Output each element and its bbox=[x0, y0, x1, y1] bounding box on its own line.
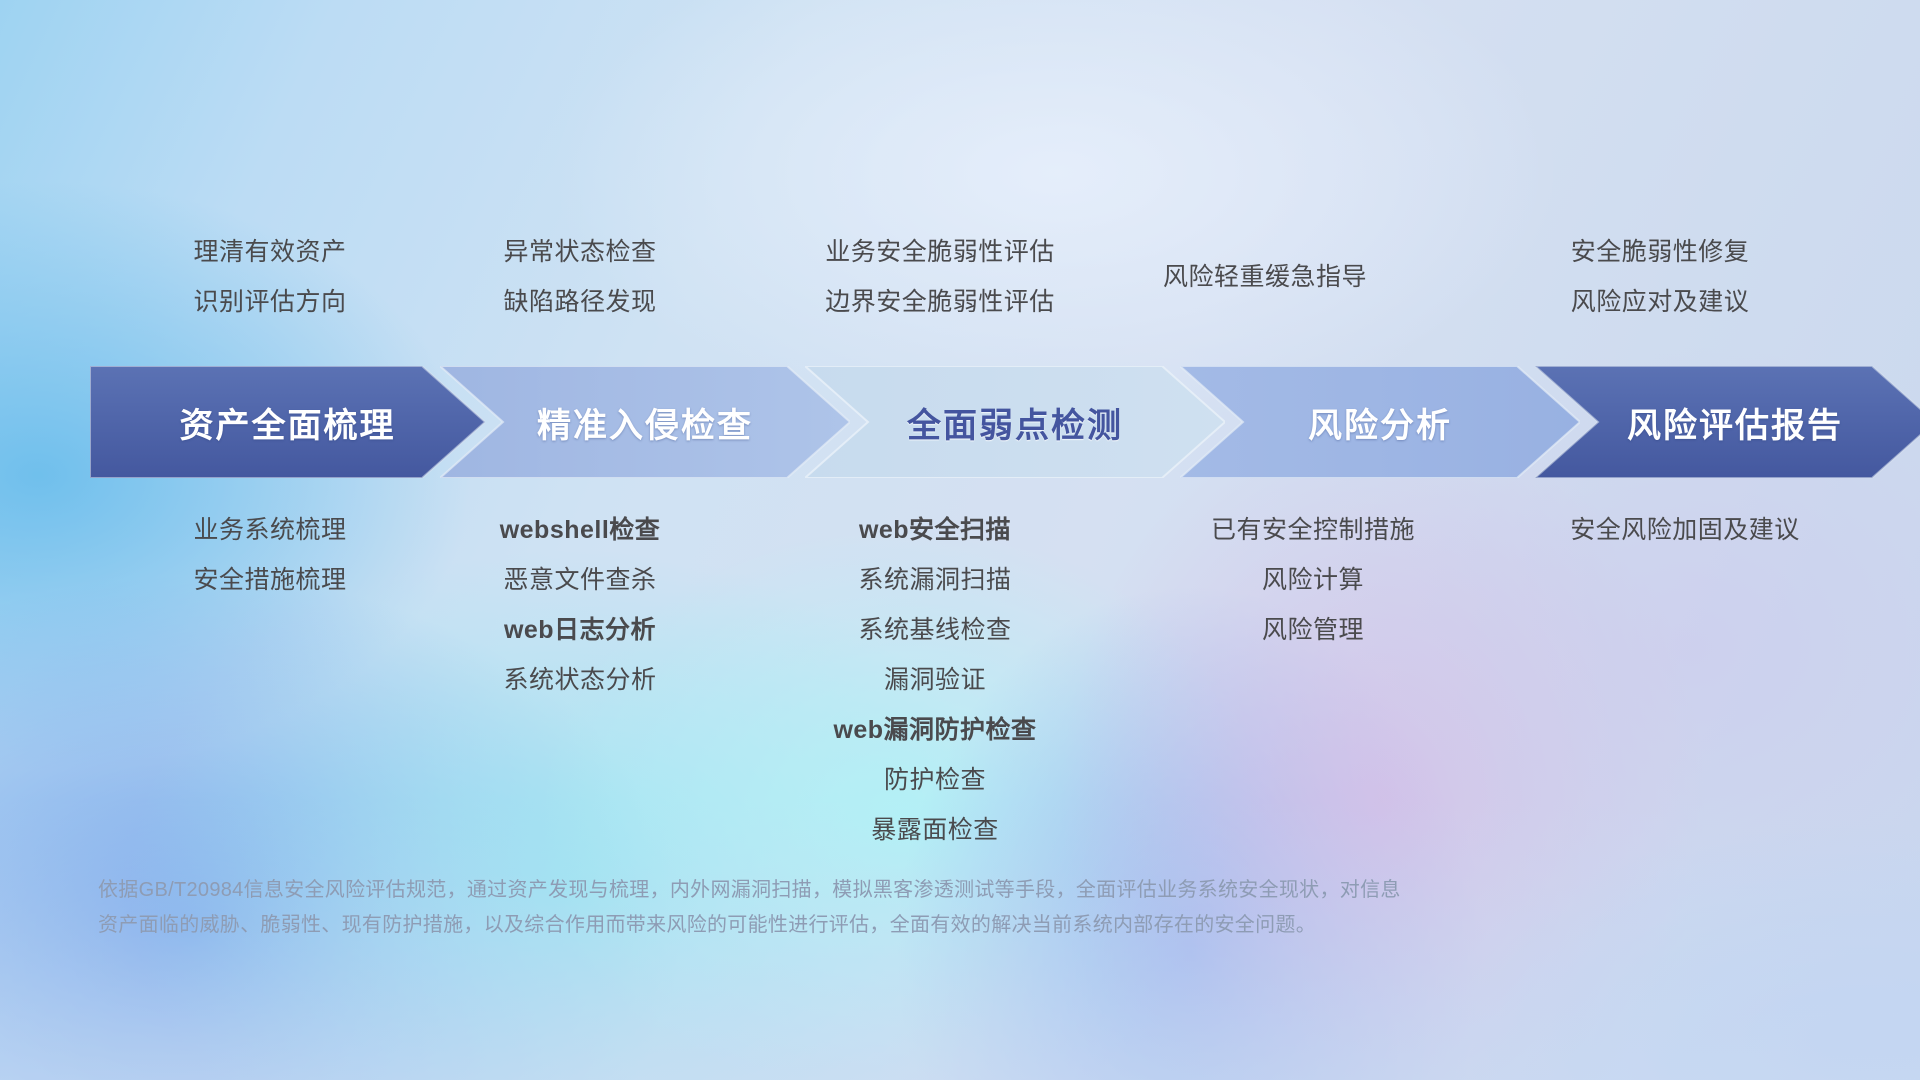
bottom-label-item: 安全风险加固及建议 bbox=[1335, 505, 1920, 555]
chevron-weakness-detection[interactable]: 全面弱点检测 bbox=[805, 366, 1225, 478]
chevron-label: 风险分析 bbox=[1308, 398, 1452, 447]
top-labels-risk-analysis: 风险轻重缓急指导 bbox=[1035, 252, 1495, 302]
bottom-label-item: 风险计算 bbox=[1083, 555, 1543, 605]
top-label-item: 安全脆弱性修复 bbox=[1430, 227, 1890, 277]
chevron-label: 精准入侵检查 bbox=[537, 398, 753, 447]
bottom-label-item: 防护检查 bbox=[705, 755, 1165, 805]
footnote-paragraph: 依据GB/T20984信息安全风险评估规范，通过资产发现与梳理，内外网漏洞扫描，… bbox=[98, 873, 1658, 943]
chevron-risk-analysis[interactable]: 风险分析 bbox=[1180, 366, 1580, 478]
top-labels-assessment-report: 安全脆弱性修复 风险应对及建议 bbox=[1430, 227, 1890, 327]
bottom-label-item: web漏洞防护检查 bbox=[705, 705, 1165, 755]
bottom-label-item: 漏洞验证 bbox=[705, 655, 1165, 705]
footnote-line: 依据GB/T20984信息安全风险评估规范，通过资产发现与梳理，内外网漏洞扫描，… bbox=[98, 873, 1658, 908]
process-diagram: 理清有效资产 识别评估方向 异常状态检查 缺陷路径发现 业务安全脆弱性评估 边界… bbox=[0, 0, 1920, 1080]
chevron-label: 风险评估报告 bbox=[1627, 398, 1843, 447]
process-chevron-band: 资产全面梳理 精准入侵检查 bbox=[90, 366, 1835, 478]
bottom-label-item: 暴露面检查 bbox=[705, 805, 1165, 855]
bottom-labels-assessment-report: 安全风险加固及建议 bbox=[1335, 505, 1920, 555]
footnote-line: 资产面临的威胁、脆弱性、现有防护措施，以及综合作用而带来风险的可能性进行评估，全… bbox=[98, 908, 1658, 943]
top-label-item: 风险轻重缓急指导 bbox=[1035, 252, 1495, 302]
chevron-label: 全面弱点检测 bbox=[907, 398, 1123, 447]
bottom-label-item: 风险管理 bbox=[1083, 605, 1543, 655]
chevron-intrusion-check[interactable]: 精准入侵检查 bbox=[440, 366, 850, 478]
top-label-item: 风险应对及建议 bbox=[1430, 277, 1890, 327]
chevron-asset-inventory[interactable]: 资产全面梳理 bbox=[90, 366, 485, 478]
chevron-assessment-report[interactable]: 风险评估报告 bbox=[1535, 366, 1920, 478]
chevron-label: 资产全面梳理 bbox=[180, 398, 396, 447]
